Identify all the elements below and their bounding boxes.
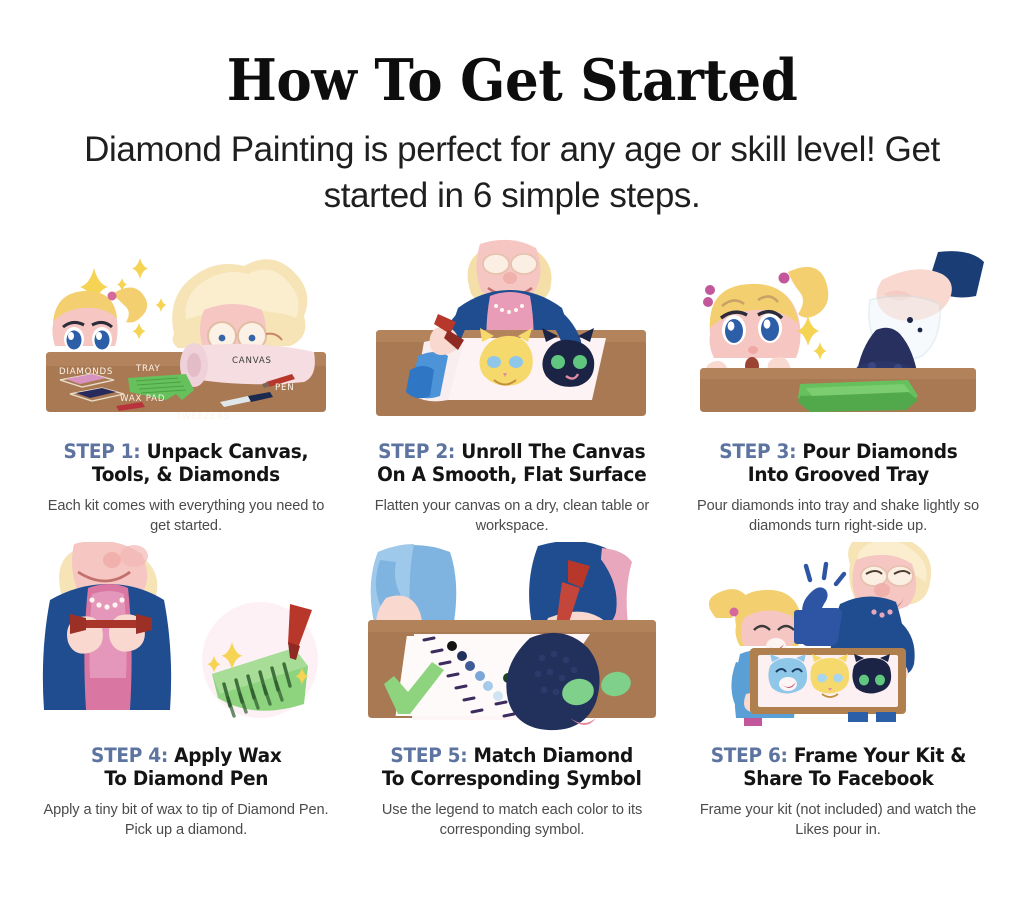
step-1-description: Each kit comes with everything you need … [36,497,336,536]
step-3-heading: STEP 3: Pour Diamonds Into Grooved Tray [719,440,957,486]
step-4-illustration [26,542,346,734]
step-card-6: STEP 6: Frame Your Kit & Share To Facebo… [678,542,998,840]
step-2-description: Flatten your canvas on a dry, clean tabl… [362,497,662,536]
step-2-heading: STEP 2: Unroll The Canvas On A Smooth, F… [377,440,646,486]
step-5-illustration [352,542,672,734]
step-4-title-line1: Apply Wax [168,744,282,767]
step-5-label: STEP 5: [391,744,468,767]
step-2-label: STEP 2: [378,440,455,463]
step-2-title-line2: On A Smooth, Flat Surface [377,463,646,486]
step-6-illustration [678,542,998,734]
step-2-title-line1: Unroll The Canvas [455,440,645,463]
step-6-title-line2: Share To Facebook [743,767,933,790]
step-6-label: STEP 6: [710,744,787,767]
label-tweezers: TWEEZERS [175,412,230,422]
step-4-description: Apply a tiny bit of wax to tip of Diamon… [36,801,336,840]
step-4-label: STEP 4: [91,744,168,767]
step-6-title-line1: Frame Your Kit & [787,744,965,767]
step-3-label: STEP 3: [719,440,796,463]
label-wax-pad: WAX PAD [120,394,165,404]
header: How To Get Started Diamond Painting is p… [0,0,1024,218]
step-1-title-line1: Unpack Canvas, [141,440,309,463]
thumbs-up-icon [794,564,844,646]
step-5-title-line1: Match Diamond [468,744,634,767]
step-5-description: Use the legend to match each color to it… [362,801,662,840]
step-6-description: Frame your kit (not included) and watch … [688,801,988,840]
step-5-heading: STEP 5: Match Diamond To Corresponding S… [382,744,642,790]
step-3-title-line1: Pour Diamonds [796,440,957,463]
step-1-label: STEP 1: [64,440,141,463]
infographic-page: How To Get Started Diamond Painting is p… [0,0,1024,922]
label-canvas: CANVAS [232,356,272,366]
step-5-title-line2: To Corresponding Symbol [382,767,642,790]
sparkle-icon [796,316,827,360]
label-pen: PEN [275,383,294,393]
label-diamonds: DIAMONDS [59,367,113,377]
step-card-2: STEP 2: Unroll The Canvas On A Smooth, F… [352,238,672,536]
step-card-4: STEP 4: Apply Wax To Diamond Pen Apply a… [26,542,346,840]
page-title: How To Get Started [36,52,988,109]
steps-grid: DIAMONDS TRAY CANVAS WAX PAD TWEEZERS PE… [0,238,1024,841]
step-3-illustration [678,238,998,430]
step-card-3: STEP 3: Pour Diamonds Into Grooved Tray … [678,238,998,536]
step-3-description: Pour diamonds into tray and shake lightl… [688,497,988,536]
step-1-illustration: DIAMONDS TRAY CANVAS WAX PAD TWEEZERS PE… [26,238,346,430]
step-4-heading: STEP 4: Apply Wax To Diamond Pen [91,744,282,790]
step-1-title-line2: Tools, & Diamonds [92,463,280,486]
page-subtitle: Diamond Painting is perfect for any age … [82,127,942,218]
step-2-illustration [352,238,672,430]
step-card-1: DIAMONDS TRAY CANVAS WAX PAD TWEEZERS PE… [26,238,346,536]
step-3-title-line2: Into Grooved Tray [747,463,928,486]
label-tray: TRAY [135,364,161,374]
step-4-title-line2: To Diamond Pen [104,767,268,790]
step-1-heading: STEP 1: Unpack Canvas, Tools, & Diamonds [64,440,309,486]
step-card-5: STEP 5: Match Diamond To Corresponding S… [352,542,672,840]
step-6-heading: STEP 6: Frame Your Kit & Share To Facebo… [710,744,965,790]
